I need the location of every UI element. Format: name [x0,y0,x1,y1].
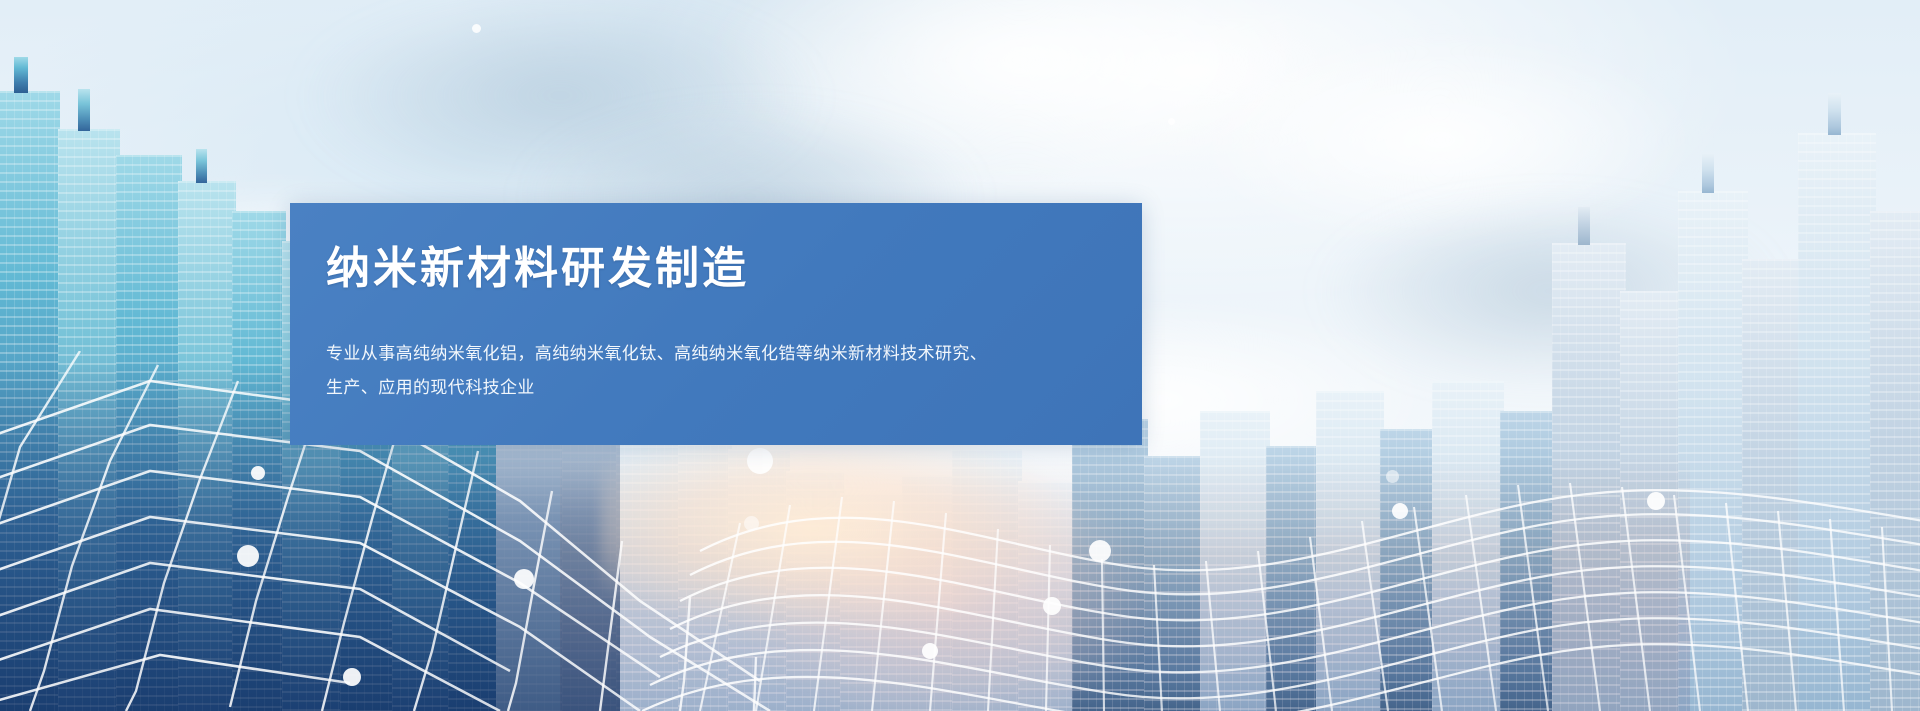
mesh-node [1392,503,1408,519]
mesh-node [1647,492,1665,510]
mesh-node [922,643,938,659]
mesh-node [1089,540,1111,562]
building-cap [14,57,28,93]
building-cap [78,89,90,131]
hero-text-panel: 纳米新材料研发制造 专业从事高纯纳米氧化铝，高纯纳米氧化钛、高纯纳米氧化锆等纳米… [290,203,1142,445]
hero-subtitle-line-1: 专业从事高纯纳米氧化铝，高纯纳米氧化钛、高纯纳米氧化锆等纳米新材料技术研究、 [326,337,1110,371]
bokeh-dot [1386,470,1399,483]
mesh-node [514,569,534,589]
hero-subtitle-line-2: 生产、应用的现代科技企业 [326,371,1110,405]
bokeh-dot [1168,118,1175,125]
mesh-node [1043,597,1061,615]
mesh-node [251,466,265,480]
mesh-node [343,668,361,686]
building-cap [1578,207,1590,245]
building-cap [196,149,207,183]
mesh-node [237,545,259,567]
bokeh-dot [472,24,481,33]
hero-subtitle: 专业从事高纯纳米氧化铝，高纯纳米氧化钛、高纯纳米氧化锆等纳米新材料技术研究、 生… [326,337,1110,405]
bokeh-dot [744,516,759,531]
hero-banner: 纳米新材料研发制造 专业从事高纯纳米氧化铝，高纯纳米氧化钛、高纯纳米氧化锆等纳米… [0,0,1920,711]
building-cap [1702,153,1714,193]
mesh-node [747,448,773,474]
building-cap [1828,93,1841,135]
page-title: 纳米新材料研发制造 [326,245,1110,293]
